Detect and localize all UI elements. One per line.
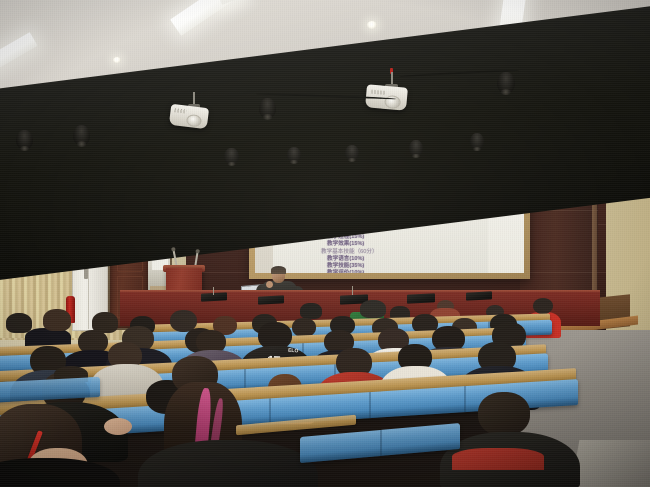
seat-row	[300, 423, 460, 463]
ceiling-projector	[169, 104, 209, 129]
lecture-hall-photo: 六个维度评: 教学目标基本:（40分） 教学内容(5%) 教学方法(5%) 教学…	[0, 0, 650, 487]
ceiling-downlight	[113, 57, 121, 63]
track-spotlight	[470, 133, 484, 149]
audience-body	[0, 458, 120, 487]
presenter-hair	[271, 266, 286, 274]
track-spotlight	[287, 147, 301, 162]
ceiling-downlight	[367, 21, 377, 29]
track-spotlight	[224, 148, 239, 164]
track-spotlight	[259, 98, 276, 118]
stage-mic-stem	[352, 286, 353, 295]
audience-head	[360, 300, 386, 318]
jersey-text: ELO	[288, 348, 299, 355]
track-spotlight	[409, 140, 423, 156]
audience-head	[300, 303, 322, 319]
track-spotlight	[497, 72, 515, 93]
stage-mic-stem	[213, 287, 214, 295]
audience-head	[533, 298, 553, 314]
slide-bullet: 教学评价(10%)	[327, 268, 364, 273]
track-spotlight	[345, 145, 359, 160]
stage-floor-monitor	[407, 293, 435, 303]
cabinet-handle[interactable]	[84, 268, 88, 279]
track-spotlight	[73, 125, 90, 145]
stage-floor-monitor	[466, 291, 492, 300]
audience-head	[43, 309, 71, 331]
audience-hands	[104, 418, 132, 435]
track-spotlight	[16, 130, 33, 149]
presenter-hand	[266, 281, 273, 288]
audience-head	[6, 313, 32, 333]
audience-head	[478, 392, 530, 436]
audience-red-collar	[452, 448, 544, 470]
stage-floor-monitor	[258, 295, 284, 304]
floor-light-patch	[571, 440, 650, 487]
slide-bullet: 教学效果(15%)	[327, 239, 364, 247]
